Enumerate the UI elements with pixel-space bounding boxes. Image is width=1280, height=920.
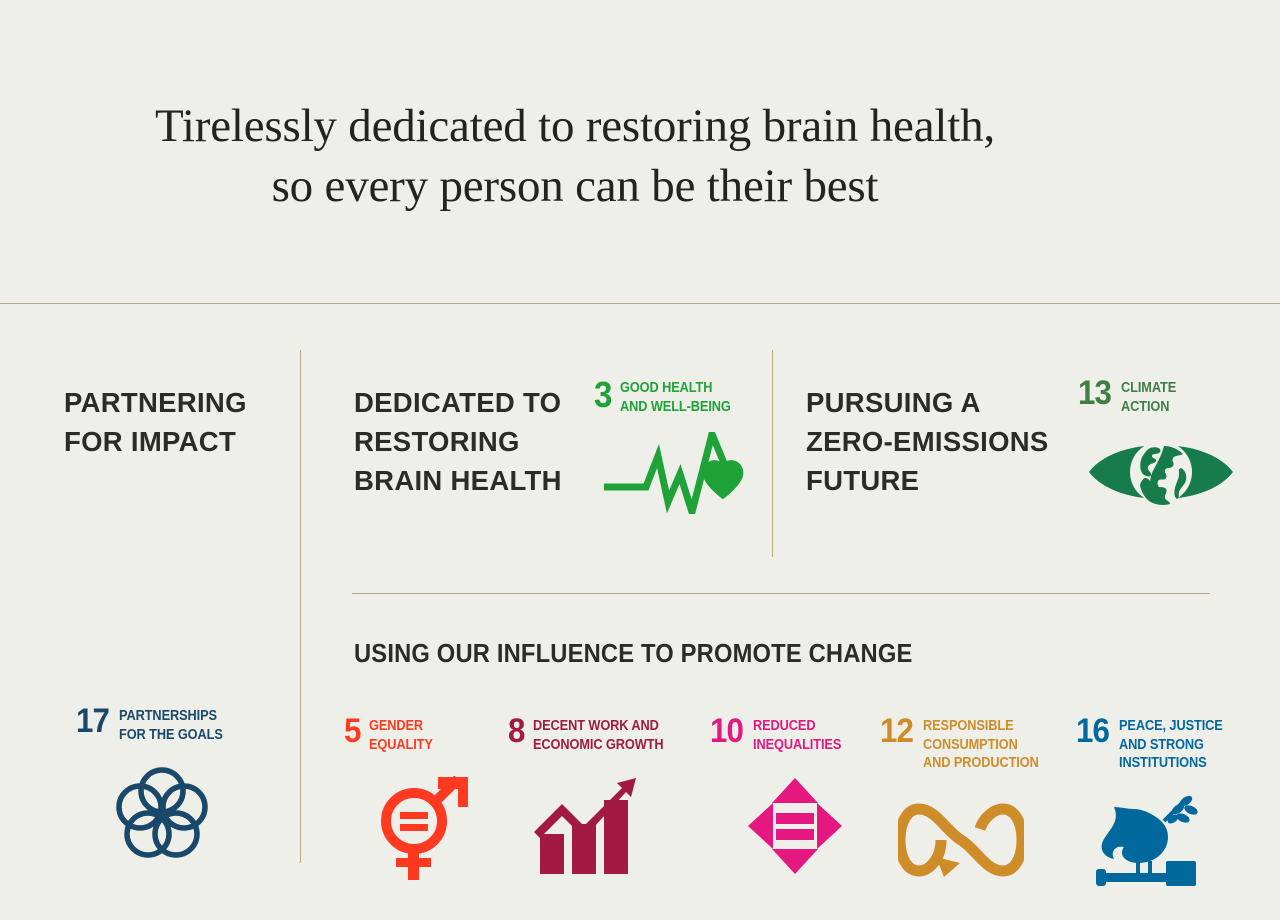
sdg-17-number: 17 bbox=[76, 706, 109, 737]
sdg-12-header: 12 RESPONSIBLE CONSUMPTION AND PRODUCTIO… bbox=[880, 716, 1054, 773]
page-title: Tirelessly dedicated to restoring brain … bbox=[0, 96, 1150, 216]
sdg-goal-5: 5 GENDER EQUALITY bbox=[344, 716, 472, 887]
sdg-goal-13: 13 CLIMATE ACTION bbox=[1078, 378, 1236, 515]
sdg-goal-17: 17 PARTNERSHIPS FOR THE GOALS bbox=[76, 706, 237, 867]
sdg-5-number: 5 bbox=[344, 716, 360, 747]
sdg-10-header: 10 REDUCED INEQUALITIES bbox=[710, 716, 853, 754]
sdg-12-number: 12 bbox=[880, 716, 913, 747]
sdg-13-number: 13 bbox=[1078, 378, 1111, 409]
infinity-loop-icon bbox=[898, 801, 1054, 884]
heading-pursuing-a-zero-emissions-future: PURSUING A ZERO-EMISSIONS FUTURE bbox=[806, 383, 1076, 500]
gender-equality-icon bbox=[376, 776, 472, 887]
left-column-divider bbox=[300, 350, 301, 863]
sdg-17-label: PARTNERSHIPS FOR THE GOALS bbox=[119, 706, 223, 744]
sdg-12-label: RESPONSIBLE CONSUMPTION AND PRODUCTION bbox=[923, 716, 1039, 773]
heading-partnering-for-impact: PARTNERING FOR IMPACT bbox=[64, 383, 294, 461]
sdg-8-number: 8 bbox=[508, 716, 524, 747]
heading-dedicated-to-restoring-brain-health: DEDICATED TO RESTORING BRAIN HEALTH bbox=[354, 383, 594, 500]
sdg-16-header: 16 PEACE, JUSTICE AND STRONG INSTITUTION… bbox=[1076, 716, 1237, 773]
heading-using-our-influence-to-promote-change: USING OUR INFLUENCE TO PROMOTE CHANGE bbox=[354, 640, 913, 669]
sdg-goal-3: 3 GOOD HEALTH AND WELL-BEING bbox=[594, 378, 746, 519]
headline-line-2: so every person can be their best bbox=[0, 156, 1150, 216]
headline-section: Tirelessly dedicated to restoring brain … bbox=[0, 0, 1280, 303]
sdg-13-header: 13 CLIMATE ACTION bbox=[1078, 378, 1236, 416]
sdg-16-label: PEACE, JUSTICE AND STRONG INSTITUTIONS bbox=[1119, 716, 1223, 773]
sdg-3-label: GOOD HEALTH AND WELL-BEING bbox=[620, 378, 731, 416]
interlocking-circles-icon bbox=[114, 766, 237, 867]
sdg-13-label: CLIMATE ACTION bbox=[1121, 378, 1176, 416]
headline-line-1: Tirelessly dedicated to restoring brain … bbox=[155, 100, 995, 152]
sdg-goal-12: 12 RESPONSIBLE CONSUMPTION AND PRODUCTIO… bbox=[880, 716, 1054, 884]
sdg-10-number: 10 bbox=[710, 716, 743, 747]
heartbeat-icon bbox=[604, 432, 746, 519]
sdg-5-header: 5 GENDER EQUALITY bbox=[344, 716, 472, 754]
middle-column-divider bbox=[772, 350, 773, 557]
sdg-goal-16: 16 PEACE, JUSTICE AND STRONG INSTITUTION… bbox=[1076, 716, 1237, 892]
sdg-goal-10: 10 REDUCED INEQUALITIES bbox=[710, 716, 853, 881]
sdg-8-header: 8 DECENT WORK AND ECONOMIC GROWTH bbox=[508, 716, 681, 754]
equals-arrows-icon bbox=[746, 776, 853, 881]
sdg-3-header: 3 GOOD HEALTH AND WELL-BEING bbox=[594, 378, 746, 416]
growth-chart-icon bbox=[532, 776, 681, 881]
sdg-8-label: DECENT WORK AND ECONOMIC GROWTH bbox=[533, 716, 664, 754]
dove-gavel-icon bbox=[1090, 795, 1237, 892]
sdg-10-label: REDUCED INEQUALITIES bbox=[753, 716, 841, 754]
eye-globe-icon bbox=[1086, 434, 1236, 515]
sdg-goal-8: 8 DECENT WORK AND ECONOMIC GROWTH bbox=[508, 716, 681, 881]
influence-section-divider bbox=[352, 593, 1210, 594]
sdg-16-number: 16 bbox=[1076, 716, 1109, 747]
sdg-5-label: GENDER EQUALITY bbox=[369, 716, 433, 754]
sdg-3-number: 3 bbox=[594, 378, 612, 411]
header-divider bbox=[0, 303, 1280, 304]
sdg-17-header: 17 PARTNERSHIPS FOR THE GOALS bbox=[76, 706, 237, 744]
